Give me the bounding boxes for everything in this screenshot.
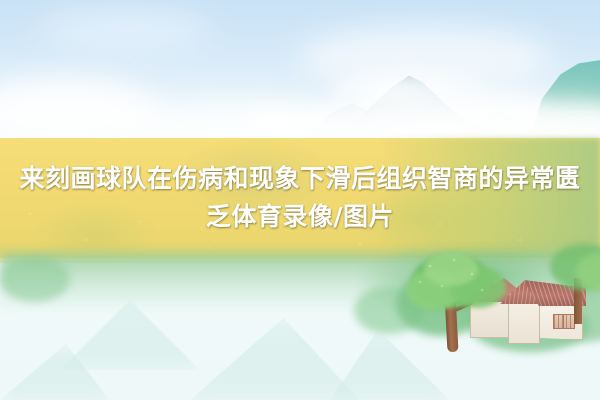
tree (406, 252, 502, 352)
shrub (0, 256, 70, 302)
tree-right (548, 244, 600, 324)
caption-text: 来刻画球队在伤病和现象下滑后组织智商的异常匮 乏体育录像/图片 (0, 160, 600, 236)
caption-line-2: 乏体育录像/图片 (0, 198, 600, 236)
tree-leaf-speckles (410, 252, 502, 310)
landscape-illustration: 来刻画球队在伤病和现象下滑后组织智商的异常匮 乏体育录像/图片 (0, 0, 600, 400)
cottage-front-wall (508, 300, 540, 344)
cloud (40, 8, 210, 52)
caption-line-1: 来刻画球队在伤病和现象下滑后组织智商的异常匮 (0, 160, 600, 198)
